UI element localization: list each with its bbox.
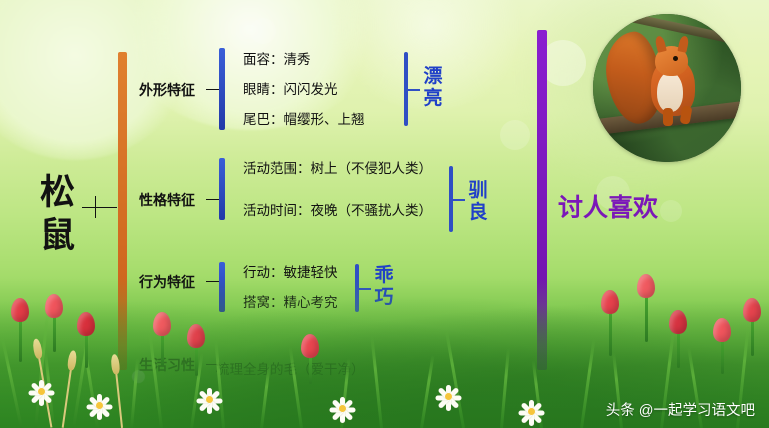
summary-label-1: 驯良 [466, 180, 490, 224]
squirrel-eye [673, 56, 678, 61]
topic-char-1: 松 [36, 172, 80, 215]
group-bar-1 [219, 158, 225, 220]
daisy-flower [86, 392, 112, 418]
leaf-1-0: 活动范围：树上（不侵犯人类） [243, 161, 432, 177]
summary-label-0: 漂亮 [421, 66, 445, 110]
tulip [742, 300, 762, 356]
leaf-0-1: 眼睛：闪闪发光 [243, 82, 338, 98]
group-bar-0 [219, 48, 225, 130]
category-label-1: 性格特征 [139, 192, 195, 209]
tulip [44, 294, 64, 352]
squirrel-belly [657, 72, 683, 112]
tulip [668, 312, 688, 368]
connector-0 [206, 89, 220, 90]
tulip [636, 276, 656, 342]
squirrel-leg [663, 108, 673, 126]
summary-text-1: 驯良 [466, 180, 490, 224]
tulip [600, 292, 620, 356]
daisy-flower [196, 386, 222, 412]
bokeh-circle [500, 120, 530, 150]
conclusion-label: 讨人喜欢 [558, 193, 658, 223]
squirrel-photo [593, 14, 741, 162]
tulip [152, 314, 172, 366]
daisy-flower [520, 400, 542, 422]
watermark: 头条 @一起学习语文吧 [606, 399, 755, 420]
tulip [10, 300, 30, 362]
tulip [76, 314, 96, 368]
topic-char-2: 鼠 [36, 215, 80, 258]
summary-text-0: 漂亮 [421, 66, 445, 110]
root-bracket-arm [95, 207, 117, 208]
bokeh-circle [250, 18, 276, 44]
category-label-0: 外形特征 [139, 82, 195, 99]
connector-1 [206, 199, 220, 200]
tulip [186, 326, 206, 376]
summary-connector-0 [408, 89, 420, 91]
daisy-flower [28, 378, 54, 404]
topic-title: 松 鼠 [36, 172, 80, 257]
daisy-flower [436, 384, 460, 408]
summary-connector-1 [453, 199, 465, 201]
daisy-flower [330, 396, 354, 420]
tulip [300, 336, 320, 384]
leaf-0-2: 尾巴：帽缨形、上翘 [243, 112, 365, 128]
leaf-0-0: 面容：清秀 [243, 52, 311, 68]
bokeh-circle [660, 200, 682, 222]
background-glow [0, 0, 190, 160]
tulip [712, 320, 732, 374]
leaf-1-1: 活动时间：夜晚（不骚扰人类） [243, 203, 432, 219]
poster-canvas: 松 鼠 外形特征 性格特征 行为特征 生活习性 面容：清秀 眼睛：闪闪发光 尾巴… [0, 0, 769, 428]
root-bracket-connector [82, 207, 95, 208]
